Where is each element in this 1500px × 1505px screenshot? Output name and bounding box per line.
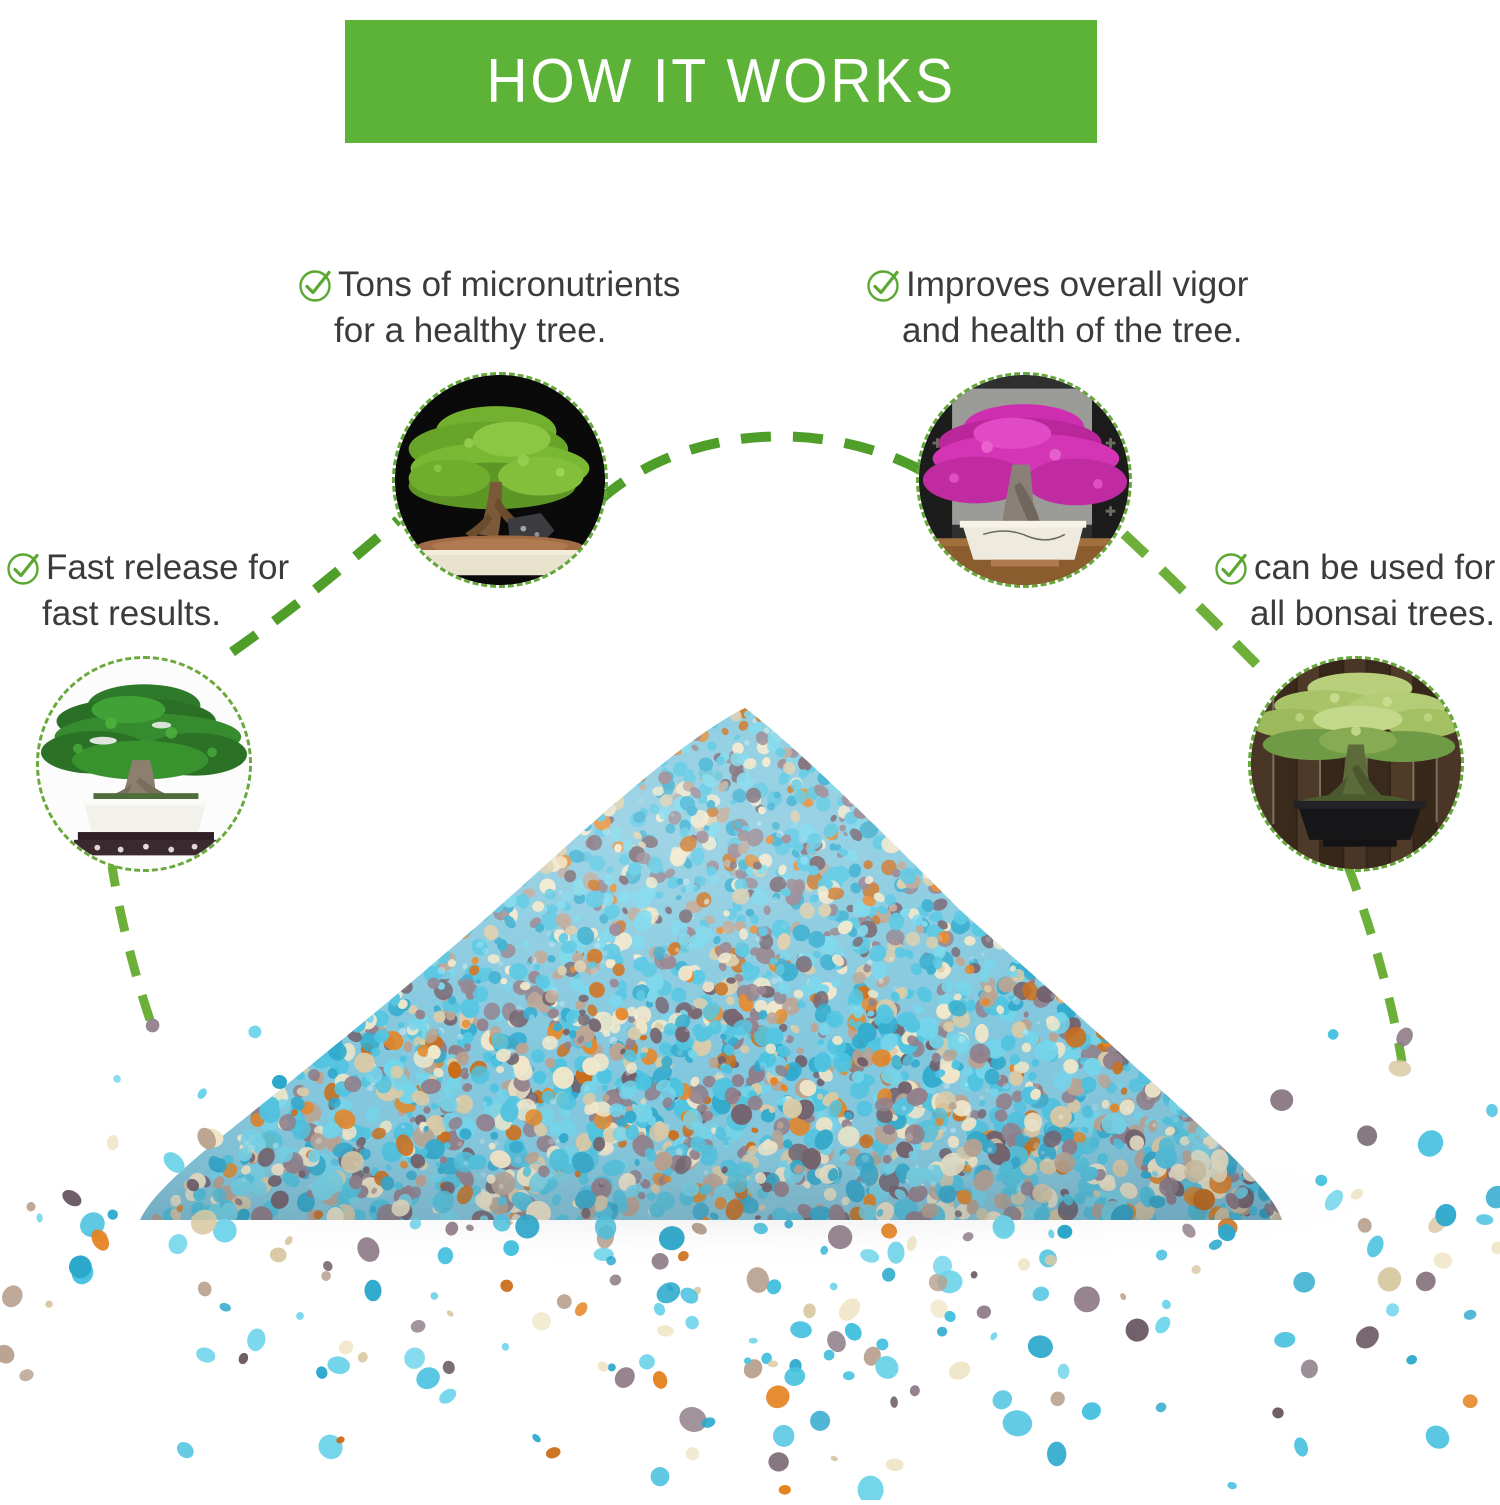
callout-line-2: and health of the tree. [864, 308, 1248, 354]
connector-maple-to-pink [600, 436, 938, 500]
callout-line-1: can be used for [1254, 545, 1495, 591]
callout-fast-release: Fast release for fast results. [4, 545, 289, 636]
page-title: HOW IT WORKS [486, 46, 955, 117]
infographic-canvas: HOW IT WORKS Tons of micronutrients for … [0, 0, 1500, 1500]
fertilizer-granule-pile [0, 690, 1500, 1500]
pile-shadow [120, 1170, 1360, 1250]
photo-pink-flowering-bonsai [916, 372, 1132, 588]
callout-tons-of-micronutrients: Tons of micronutrients for a healthy tre… [296, 262, 680, 353]
callout-line-1: Improves overall vigor [906, 262, 1248, 308]
callout-all-bonsai-trees: can be used for all bonsai trees. [1212, 545, 1495, 636]
pile-graphic [0, 690, 1500, 1500]
check-circle-icon [864, 265, 904, 305]
callout-line-1: Fast release for [46, 545, 289, 591]
check-circle-icon [296, 265, 336, 305]
callout-line-2: fast results. [4, 591, 289, 637]
callout-improves-overall-vigor: Improves overall vigor and health of the… [864, 262, 1248, 353]
callout-line-1: Tons of micronutrients [338, 262, 680, 308]
callout-line-2: for a healthy tree. [296, 308, 680, 354]
header-banner: HOW IT WORKS [345, 20, 1097, 143]
check-circle-icon [1212, 548, 1252, 588]
check-circle-icon [4, 548, 44, 588]
photo-green-maple-bonsai [392, 372, 608, 588]
callout-line-2: all bonsai trees. [1212, 591, 1495, 637]
